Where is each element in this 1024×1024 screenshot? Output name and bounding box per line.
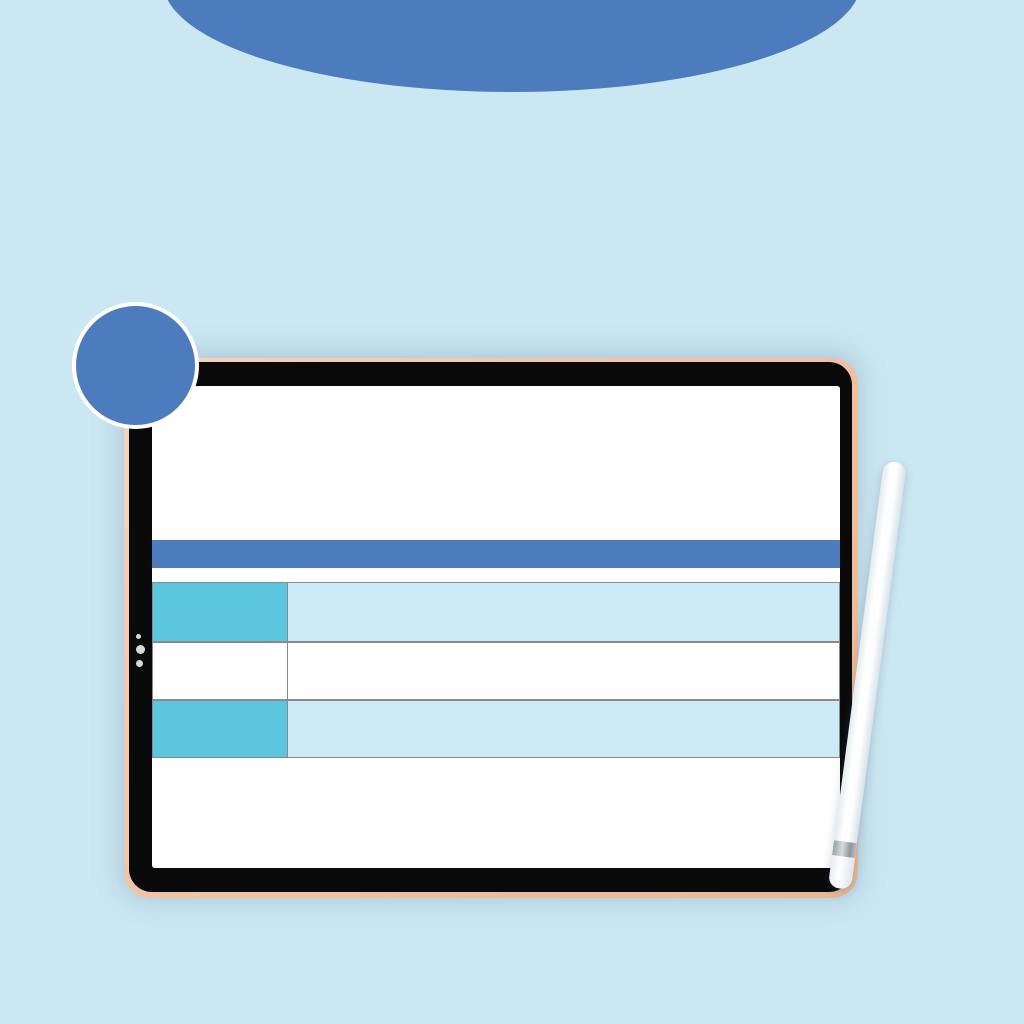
brand-ellipse (163, 0, 861, 92)
stats-label-not-done (153, 603, 287, 623)
percentage-area-chart (374, 392, 840, 517)
stats-values-grid (288, 582, 840, 642)
bezel-dot-1 (136, 634, 141, 639)
bezel-indicator-dots (136, 628, 145, 673)
flowers-row (152, 642, 840, 700)
flowers-grid (288, 642, 840, 700)
stats-label-percentage (153, 623, 287, 643)
bezel-dot-2 (136, 645, 145, 654)
stats-label-done (153, 583, 287, 603)
daily-habits-label (152, 700, 288, 758)
poster-canvas (0, 0, 1024, 1024)
habit-tracker-sheet (152, 386, 840, 868)
stats-row-labels (152, 582, 288, 642)
flowers-you-got-cell (152, 642, 288, 700)
chart-plot-area (402, 392, 840, 502)
calendar-header-grid (288, 700, 840, 758)
flowers-you-got-value (153, 647, 287, 656)
buy-now-button[interactable] (72, 302, 199, 429)
tablet-screen (152, 386, 840, 868)
chart-y-axis (374, 392, 400, 502)
section-divider-band (152, 540, 840, 568)
daily-habits-header (152, 700, 840, 758)
bezel-dot-3 (136, 660, 143, 667)
